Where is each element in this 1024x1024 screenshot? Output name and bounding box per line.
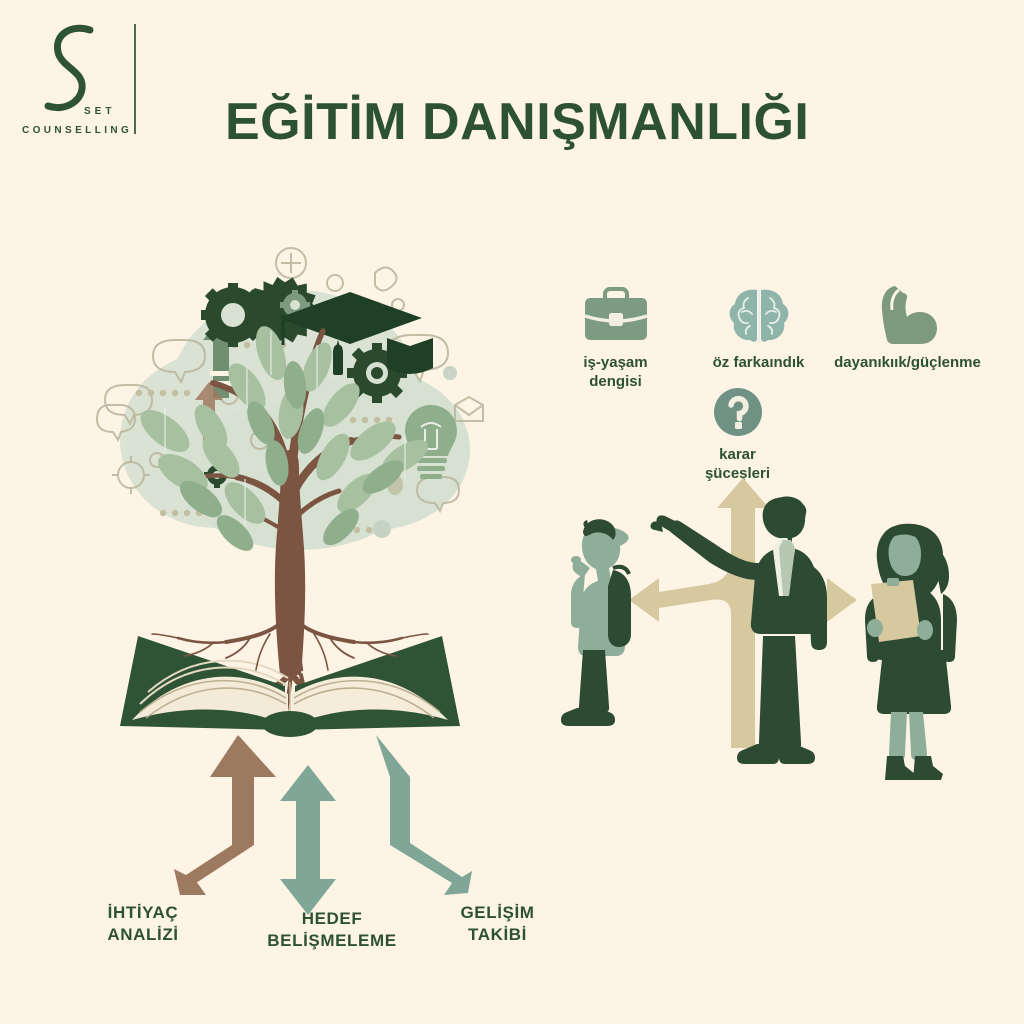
process-label-line2: HEDEF BELİŞMELEME xyxy=(267,909,396,950)
logo-counselling-text: COUNSELLING xyxy=(22,125,132,136)
brain-icon xyxy=(726,286,792,346)
process-label-gelisim-takibi: GELİŞİM TAKİBİ xyxy=(410,902,585,946)
figure-advisor-face xyxy=(889,532,922,576)
service-icon-dayanikiik-guclenme[interactable]: dayanıkıık/güçlenme xyxy=(800,282,1015,372)
process-label-line3: GELİŞİM TAKİBİ xyxy=(460,903,534,944)
service-icon-label: dayanıkıık/güçlenme xyxy=(800,353,1015,372)
service-icon-karar-sucesleri[interactable]: karar şüceşleri xyxy=(665,386,810,483)
logo-set-text: SET xyxy=(84,106,115,117)
figure-student-backpack xyxy=(608,567,631,647)
decor-dot xyxy=(443,366,457,380)
s-swoosh-logo-icon xyxy=(32,22,102,118)
process-label-ihtiyac-analizi: İHTİYAÇ ANALİZİ xyxy=(58,902,228,946)
service-icon-is-yasam-dengisi[interactable]: iş-yaşam dengisi xyxy=(543,286,688,391)
arrow-hedef-belismeleme xyxy=(280,765,336,915)
process-label-hedef-belismeleme: HEDEF BELİŞMELEME xyxy=(232,908,432,952)
question-mark-circle-icon xyxy=(712,386,764,438)
process-label-line1: İHTİYAÇ ANALİZİ xyxy=(107,903,178,944)
figure-student-legs xyxy=(561,650,615,726)
briefcase-icon xyxy=(579,286,653,346)
counselling-scene xyxy=(555,478,980,783)
arrow-ihtiyac-analizi xyxy=(174,735,276,895)
infographic-canvas: SET COUNSELLING EĞİTİM DANIŞMANLIĞI xyxy=(0,0,1024,1024)
logo-divider xyxy=(134,24,136,134)
flexed-bicep-icon xyxy=(873,282,943,346)
brand-logo[interactable]: SET COUNSELLING xyxy=(22,22,150,140)
decor-dot xyxy=(373,520,391,538)
process-arrows xyxy=(130,735,550,915)
open-book-illustration xyxy=(110,608,470,743)
figure-advisor-legs xyxy=(889,712,927,760)
page-title: EĞİTİM DANIŞMANLIĞI xyxy=(225,92,809,152)
arrow-gelisim-takibi xyxy=(376,735,472,895)
